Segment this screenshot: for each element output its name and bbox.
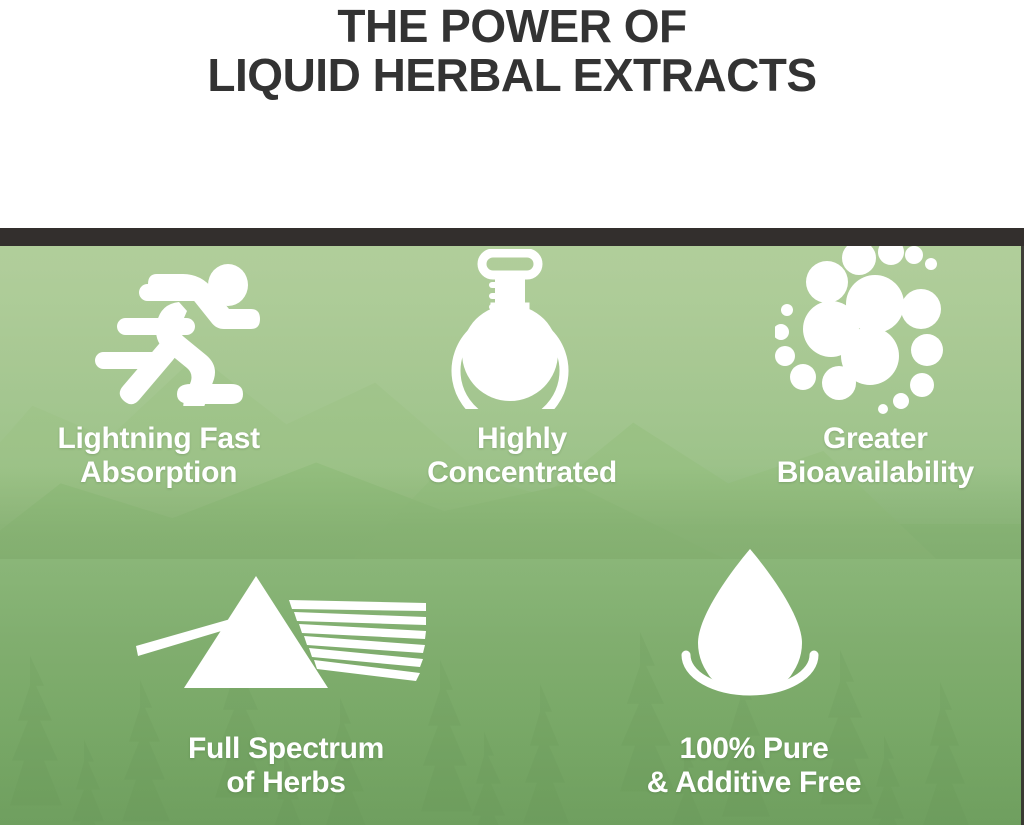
feature-label: Lightning Fast Absorption xyxy=(57,422,259,489)
running-man-icon xyxy=(61,246,261,426)
feature-100-percent-pure: 100% Pure & Additive Free xyxy=(512,536,1024,825)
feature-highly-concentrated: Highly Concentrated xyxy=(341,246,682,536)
flask-icon xyxy=(435,246,585,424)
title-block: THE POWER OF LIQUID HERBAL EXTRACTS xyxy=(0,0,1024,228)
feature-label: Greater Bioavailability xyxy=(777,422,974,489)
prism-spectrum-icon xyxy=(126,540,446,730)
feature-grid: Lightning Fast Absorption xyxy=(0,246,1024,825)
feature-greater-bioavailability: Greater Bioavailability xyxy=(683,246,1024,536)
feature-label: Highly Concentrated xyxy=(427,422,617,489)
water-droplet-icon xyxy=(660,530,840,720)
feature-label: Full Spectrum of Herbs xyxy=(188,732,384,799)
feature-row-bottom: Full Spectrum of Herbs 1 xyxy=(0,536,1024,825)
feature-label: 100% Pure & Additive Free xyxy=(647,732,861,799)
infographic-page: THE POWER OF LIQUID HERBAL EXTRACTS xyxy=(0,0,1024,825)
feature-full-spectrum-of-herbs: Full Spectrum of Herbs xyxy=(0,536,512,825)
feature-row-top: Lightning Fast Absorption xyxy=(0,246,1024,536)
feature-lightning-fast-absorption: Lightning Fast Absorption xyxy=(0,246,341,536)
page-title-line-2: LIQUID HERBAL EXTRACTS xyxy=(0,51,1024,100)
bubbles-cluster-icon xyxy=(775,246,975,424)
divider-bar xyxy=(0,228,1024,246)
hero-panel: Lightning Fast Absorption xyxy=(0,246,1024,825)
page-title-line-1: THE POWER OF xyxy=(0,2,1024,51)
